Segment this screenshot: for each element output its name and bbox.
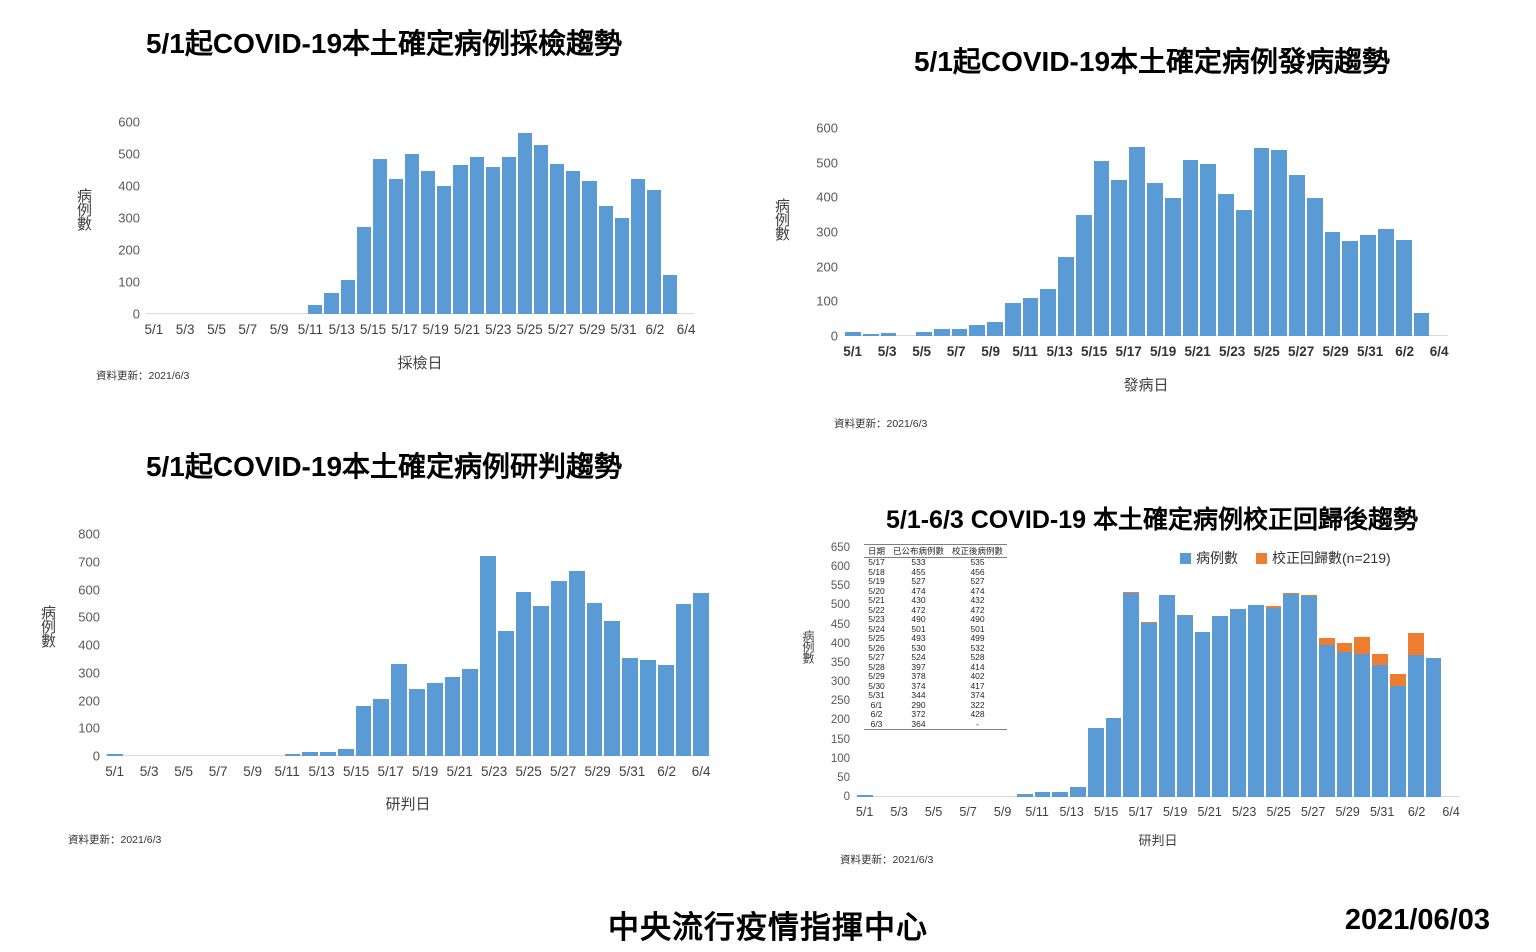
x-tick-label: 5/21	[454, 322, 480, 337]
x-tick-label: 5/11	[1012, 344, 1038, 359]
bar-column	[862, 128, 880, 336]
bar-column	[408, 534, 426, 756]
bar-segment-cases	[676, 604, 692, 756]
bar-segment-cases	[534, 145, 548, 314]
bar-segment-cases	[615, 218, 629, 314]
bar-segment-cases	[502, 157, 516, 314]
y-tick-label: 300	[816, 225, 838, 240]
y-tick-label: 350	[831, 657, 850, 669]
bar-column	[275, 122, 291, 314]
bar-column	[1034, 548, 1052, 797]
bar-column	[1425, 548, 1443, 797]
x-tick-label: 5/31	[619, 764, 645, 779]
bar-column	[1395, 128, 1413, 336]
chart1-y-axis-label: 病例數	[76, 188, 91, 230]
bar-segment-cases	[640, 660, 656, 756]
x-tick-label: 5/29	[584, 764, 610, 779]
bar-segment-cases	[1058, 257, 1074, 336]
x-tick-label: 6/4	[692, 764, 711, 779]
bar-column	[479, 534, 497, 756]
bar-column	[266, 534, 284, 756]
bar-column	[1430, 128, 1448, 336]
bar-column	[1016, 548, 1034, 797]
x-tick-label: 5/27	[1288, 344, 1314, 359]
bar-segment-cases	[934, 329, 950, 336]
bar-column	[485, 122, 501, 314]
bar-segment-cases	[453, 165, 467, 314]
bar-segment-cases	[516, 592, 532, 756]
x-tick-label: 5/5	[174, 764, 193, 779]
bar-segment-cases	[1236, 210, 1252, 336]
bar-segment-cases	[582, 181, 596, 314]
bar-column	[549, 122, 565, 314]
bar-column	[390, 534, 408, 756]
bar-segment-cases	[566, 171, 580, 314]
bar-column	[444, 534, 462, 756]
bar-column	[1247, 548, 1265, 797]
bar-segment-correction	[1408, 633, 1424, 654]
bar-column	[874, 548, 892, 797]
x-tick-label: 5/27	[1301, 805, 1325, 819]
bar-segment-cases	[857, 795, 873, 797]
bar-column	[259, 122, 275, 314]
y-tick-label: 300	[831, 676, 850, 688]
x-tick-label: 5/1	[144, 322, 163, 337]
y-tick-label: 0	[93, 749, 100, 764]
chart3-source-note: 資料更新：2021/6/3	[68, 832, 161, 847]
bar-column	[1164, 128, 1182, 336]
bar-segment-cases	[1396, 240, 1412, 336]
y-tick-label: 0	[133, 307, 140, 322]
bar-segment-cases	[1111, 180, 1127, 336]
bar-column	[844, 128, 862, 336]
bar-column	[1282, 548, 1300, 797]
bar-segment-cases	[533, 606, 549, 756]
y-tick-label: 250	[831, 695, 850, 707]
chart4-y-ticks: 050100150200250300350400450500550600650	[810, 440, 850, 880]
bar-column	[1407, 548, 1425, 797]
bar-column	[213, 534, 231, 756]
bar-segment-cases	[1337, 652, 1353, 797]
x-tick-label: 5/9	[994, 805, 1011, 819]
bar-column	[1022, 128, 1040, 336]
bar-segment-cases	[1283, 594, 1299, 797]
x-tick-label: 5/7	[959, 805, 976, 819]
y-tick-label: 450	[831, 619, 850, 631]
bar-column	[436, 122, 452, 314]
bar-column	[1389, 548, 1407, 797]
bar-segment-cases	[550, 164, 564, 314]
y-tick-label: 400	[831, 638, 850, 650]
chart3-plot-area	[106, 534, 710, 756]
bar-segment-cases	[969, 325, 985, 336]
x-tick-label: 5/13	[1059, 805, 1083, 819]
bar-column	[678, 122, 694, 314]
bar-segment-cases	[1212, 616, 1228, 797]
bar-column	[951, 128, 969, 336]
bar-column	[1087, 548, 1105, 797]
bar-column	[1051, 548, 1069, 797]
bar-segment-cases	[1094, 161, 1110, 336]
x-tick-label: 5/7	[209, 764, 228, 779]
bar-column	[1158, 548, 1176, 797]
x-tick-label: 5/23	[481, 764, 507, 779]
bar-segment-cases	[480, 556, 496, 756]
bar-segment-cases	[1266, 608, 1282, 797]
bar-column	[692, 534, 710, 756]
x-tick-label: 5/17	[1128, 805, 1152, 819]
bar-column	[1318, 548, 1336, 797]
chart4-source-note: 資料更新：2021/6/3	[840, 852, 933, 867]
bar-segment-cases	[373, 159, 387, 314]
y-tick-label: 650	[831, 542, 850, 554]
bar-column	[1105, 548, 1123, 797]
bar-segment-cases	[486, 167, 500, 314]
bar-column	[1211, 548, 1229, 797]
x-tick-label: 5/25	[515, 764, 541, 779]
bar-column	[986, 128, 1004, 336]
bar-column	[945, 548, 963, 797]
x-tick-label: 5/19	[423, 322, 449, 337]
chart3-y-axis-label: 病例數	[40, 605, 55, 647]
bar-segment-cases	[881, 333, 897, 336]
bar-column	[1140, 548, 1158, 797]
bar-column	[1128, 128, 1146, 336]
bar-column	[880, 128, 898, 336]
bar-column	[404, 122, 420, 314]
y-tick-label: 400	[816, 190, 838, 205]
bar-column	[1442, 548, 1460, 797]
bar-column	[1194, 548, 1212, 797]
bar-column	[420, 122, 436, 314]
bar-segment-cases	[1354, 654, 1370, 797]
bar-column	[621, 534, 639, 756]
chart1-plot-area	[146, 122, 694, 314]
y-tick-label: 800	[78, 527, 100, 542]
bar-column	[230, 534, 248, 756]
bar-column	[1353, 548, 1371, 797]
x-tick-label: 5/19	[1163, 805, 1187, 819]
bar-segment-cases	[952, 329, 968, 336]
bar-segment-cases	[1052, 792, 1068, 797]
bar-segment-cases	[916, 332, 932, 336]
bar-segment-cases	[1218, 194, 1234, 336]
bar-column	[933, 128, 951, 336]
y-tick-label: 300	[78, 665, 100, 680]
bar-segment-cases	[320, 752, 336, 756]
x-tick-label: 6/4	[1430, 344, 1449, 359]
x-tick-label: 5/5	[925, 805, 942, 819]
x-tick-label: 5/3	[140, 764, 159, 779]
chart4-plot: 病例數 050100150200250300350400450500550600…	[768, 440, 1536, 880]
bar-column	[1371, 548, 1389, 797]
x-tick-label: 5/25	[1253, 344, 1279, 359]
y-tick-label: 400	[78, 638, 100, 653]
chart3-y-ticks: 0100200300400500600700800	[58, 430, 100, 870]
bar-segment-cases	[693, 593, 709, 756]
bar-column	[340, 122, 356, 314]
y-tick-label: 500	[118, 147, 140, 162]
x-tick-label: 5/7	[238, 322, 257, 337]
bar-segment-cases	[622, 658, 638, 757]
bar-segment-cases	[1319, 645, 1335, 797]
x-tick-label: 5/31	[1370, 805, 1394, 819]
bar-segment-cases	[518, 133, 532, 314]
x-tick-label: 5/31	[1357, 344, 1383, 359]
bar-segment-cases	[1088, 728, 1104, 797]
y-tick-label: 200	[831, 714, 850, 726]
x-tick-label: 6/4	[1442, 805, 1459, 819]
y-tick-label: 100	[816, 294, 838, 309]
bar-segment-cases	[1372, 665, 1388, 797]
bar-column	[1359, 128, 1377, 336]
bar-column	[1069, 548, 1087, 797]
bar-column	[639, 534, 657, 756]
x-tick-label: 5/1	[843, 344, 862, 359]
bar-column	[915, 128, 933, 336]
panel-corrected-trend: 5/1-6/3 COVID-19 本土確定病例校正回歸後趨勢 病例數 05010…	[768, 440, 1536, 880]
bar-segment-cases	[1023, 298, 1039, 336]
bar-column	[1341, 128, 1359, 336]
bar-segment-cases	[462, 669, 478, 756]
bar-column	[968, 128, 986, 336]
bar-segment-cases	[1230, 609, 1246, 797]
bar-column	[603, 534, 621, 756]
bar-segment-cases	[1426, 658, 1442, 797]
x-tick-label: 5/13	[1046, 344, 1072, 359]
x-tick-label: 5/3	[878, 344, 897, 359]
banner-date: 2021/06/03	[1345, 904, 1490, 937]
bar-column	[980, 548, 998, 797]
bar-column	[1377, 128, 1395, 336]
bar-column	[662, 122, 678, 314]
bar-segment-cases	[1005, 303, 1021, 336]
chart1-y-ticks: 0100200300400500600	[100, 0, 140, 420]
bar-segment-cases	[308, 305, 322, 314]
x-tick-label: 5/27	[548, 322, 574, 337]
x-tick-label: 5/15	[1081, 344, 1107, 359]
bar-column	[323, 122, 339, 314]
x-tick-label: 5/21	[446, 764, 472, 779]
y-tick-label: 200	[816, 259, 838, 274]
x-tick-label: 5/25	[516, 322, 542, 337]
bar-column	[517, 122, 533, 314]
bar-column	[1057, 128, 1075, 336]
bar-column	[646, 122, 662, 314]
bar-column	[1235, 128, 1253, 336]
bar-column	[1110, 128, 1128, 336]
bar-segment-cases	[302, 752, 318, 756]
bar-segment-correction	[1354, 637, 1370, 653]
x-tick-label: 5/21	[1197, 805, 1221, 819]
y-tick-label: 100	[78, 721, 100, 736]
bar-column	[469, 122, 485, 314]
bar-column	[1288, 128, 1306, 336]
bar-column	[927, 548, 945, 797]
bar-segment-cases	[421, 171, 435, 314]
bar-column	[501, 122, 517, 314]
panel-judgement-trend: 5/1起COVID-19本土確定病例研判趨勢 病例數 0100200300400…	[0, 430, 768, 870]
x-tick-label: 6/2	[1408, 805, 1425, 819]
bar-segment-cases	[1360, 235, 1376, 336]
y-tick-label: 550	[831, 580, 850, 592]
bar-segment-cases	[445, 677, 461, 756]
y-tick-label: 50	[837, 772, 850, 784]
x-tick-label: 5/17	[377, 764, 403, 779]
bar-segment-cases	[389, 179, 403, 314]
bar-column	[1199, 128, 1217, 336]
bar-column	[565, 122, 581, 314]
chart2-y-axis-label: 病例數	[774, 198, 789, 240]
x-tick-label: 5/3	[890, 805, 907, 819]
bar-column	[515, 534, 533, 756]
bar-segment-correction	[1390, 674, 1406, 686]
chart2-bars	[844, 128, 1448, 336]
bar-column	[1182, 128, 1200, 336]
y-tick-label: 200	[118, 243, 140, 258]
x-tick-label: 5/13	[308, 764, 334, 779]
x-tick-label: 5/11	[274, 764, 299, 779]
bar-segment-cases	[1159, 595, 1175, 797]
bar-column	[319, 534, 337, 756]
y-tick-label: 100	[118, 275, 140, 290]
bar-column	[1229, 548, 1247, 797]
bar-segment-cases	[391, 664, 407, 756]
x-tick-label: 5/29	[1335, 805, 1359, 819]
bar-column	[356, 122, 372, 314]
bar-segment-cases	[631, 179, 645, 314]
bar-column	[1336, 548, 1354, 797]
bar-segment-cases	[599, 206, 613, 314]
bar-column	[162, 122, 178, 314]
y-tick-label: 200	[78, 693, 100, 708]
bar-column	[533, 122, 549, 314]
bar-segment-cases	[1378, 229, 1394, 336]
chart3-plot: 病例數 0100200300400500600700800 5/15/35/55…	[0, 430, 768, 870]
x-tick-label: 5/29	[1322, 344, 1348, 359]
panel-onset-trend: 5/1起COVID-19本土確定病例發病趨勢 病例數 0100200300400…	[768, 0, 1536, 440]
bar-column	[106, 534, 124, 756]
bar-column	[675, 534, 693, 756]
bar-segment-cases	[470, 157, 484, 314]
bar-segment-cases	[1177, 615, 1193, 797]
bar-column	[142, 534, 160, 756]
bar-segment-cases	[1408, 655, 1424, 798]
bar-column	[1324, 128, 1342, 336]
bar-segment-cases	[107, 754, 123, 756]
bar-column	[1004, 128, 1022, 336]
bar-segment-cases	[845, 332, 861, 336]
bar-column	[284, 534, 302, 756]
x-tick-label: 5/15	[343, 764, 369, 779]
bar-segment-cases	[427, 683, 443, 756]
x-tick-label: 5/29	[579, 322, 605, 337]
y-tick-label: 500	[78, 610, 100, 625]
x-tick-label: 5/17	[391, 322, 417, 337]
x-tick-label: 5/5	[912, 344, 931, 359]
bar-segment-cases	[338, 749, 354, 756]
y-tick-label: 0	[844, 791, 850, 803]
bar-segment-cases	[357, 227, 371, 314]
bar-column	[301, 534, 319, 756]
x-tick-label: 5/11	[1025, 805, 1048, 819]
x-tick-label: 5/19	[1150, 344, 1176, 359]
x-tick-label: 5/9	[243, 764, 262, 779]
y-tick-label: 300	[118, 211, 140, 226]
bar-segment-cases	[1248, 605, 1264, 797]
x-tick-label: 5/21	[1184, 344, 1210, 359]
bar-column	[1306, 128, 1324, 336]
x-tick-label: 5/13	[329, 322, 355, 337]
chart2-x-axis-label: 發病日	[844, 374, 1448, 395]
x-tick-label: 5/27	[550, 764, 576, 779]
bar-segment-cases	[569, 571, 585, 756]
bar-column	[194, 122, 210, 314]
bar-column	[178, 122, 194, 314]
bar-column	[1146, 128, 1164, 336]
bar-column	[426, 534, 444, 756]
chart1-plot: 病例數 0100200300400500600 5/15/35/55/75/95…	[0, 0, 768, 420]
bar-segment-cases	[373, 699, 389, 756]
bar-column	[586, 534, 604, 756]
bar-segment-cases	[1200, 164, 1216, 336]
chart3-bars	[106, 534, 710, 756]
y-tick-label: 500	[816, 155, 838, 170]
bar-column	[568, 534, 586, 756]
footer-banner: 中央流行疫情指揮中心 2021/06/03	[0, 896, 1536, 952]
x-tick-label: 5/31	[610, 322, 636, 337]
bar-column	[1270, 128, 1288, 336]
bar-column	[963, 548, 981, 797]
bar-column	[1122, 548, 1140, 797]
bar-column	[291, 122, 307, 314]
bar-column	[452, 122, 468, 314]
bar-segment-correction	[1337, 643, 1353, 652]
bar-column	[550, 534, 568, 756]
bar-column	[1413, 128, 1431, 336]
x-tick-label: 5/1	[105, 764, 124, 779]
x-tick-label: 5/5	[207, 322, 226, 337]
bar-segment-cases	[1307, 198, 1323, 336]
bar-segment-cases	[1289, 175, 1305, 336]
x-tick-label: 5/3	[176, 322, 195, 337]
bar-segment-cases	[1342, 241, 1358, 336]
bar-column	[909, 548, 927, 797]
bar-segment-cases	[324, 293, 338, 314]
bar-column	[897, 128, 915, 336]
bar-column	[657, 534, 675, 756]
bar-column	[337, 534, 355, 756]
bar-segment-cases	[1390, 686, 1406, 797]
chart1-x-axis-label: 採檢日	[146, 352, 694, 373]
y-tick-label: 600	[78, 582, 100, 597]
bar-column	[1217, 128, 1235, 336]
bar-column	[461, 534, 479, 756]
x-tick-label: 5/23	[1219, 344, 1245, 359]
bar-column	[1039, 128, 1057, 336]
x-tick-label: 5/7	[947, 344, 966, 359]
bar-segment-cases	[647, 190, 661, 314]
x-tick-label: 6/2	[645, 322, 664, 337]
bar-column	[211, 122, 227, 314]
bar-segment-cases	[863, 334, 879, 336]
bar-segment-cases	[604, 621, 620, 756]
bar-segment-cases	[1183, 160, 1199, 336]
bar-column	[532, 534, 550, 756]
bar-segment-cases	[551, 581, 567, 756]
x-tick-label: 5/9	[981, 344, 1000, 359]
chart2-plot-area	[844, 128, 1448, 336]
